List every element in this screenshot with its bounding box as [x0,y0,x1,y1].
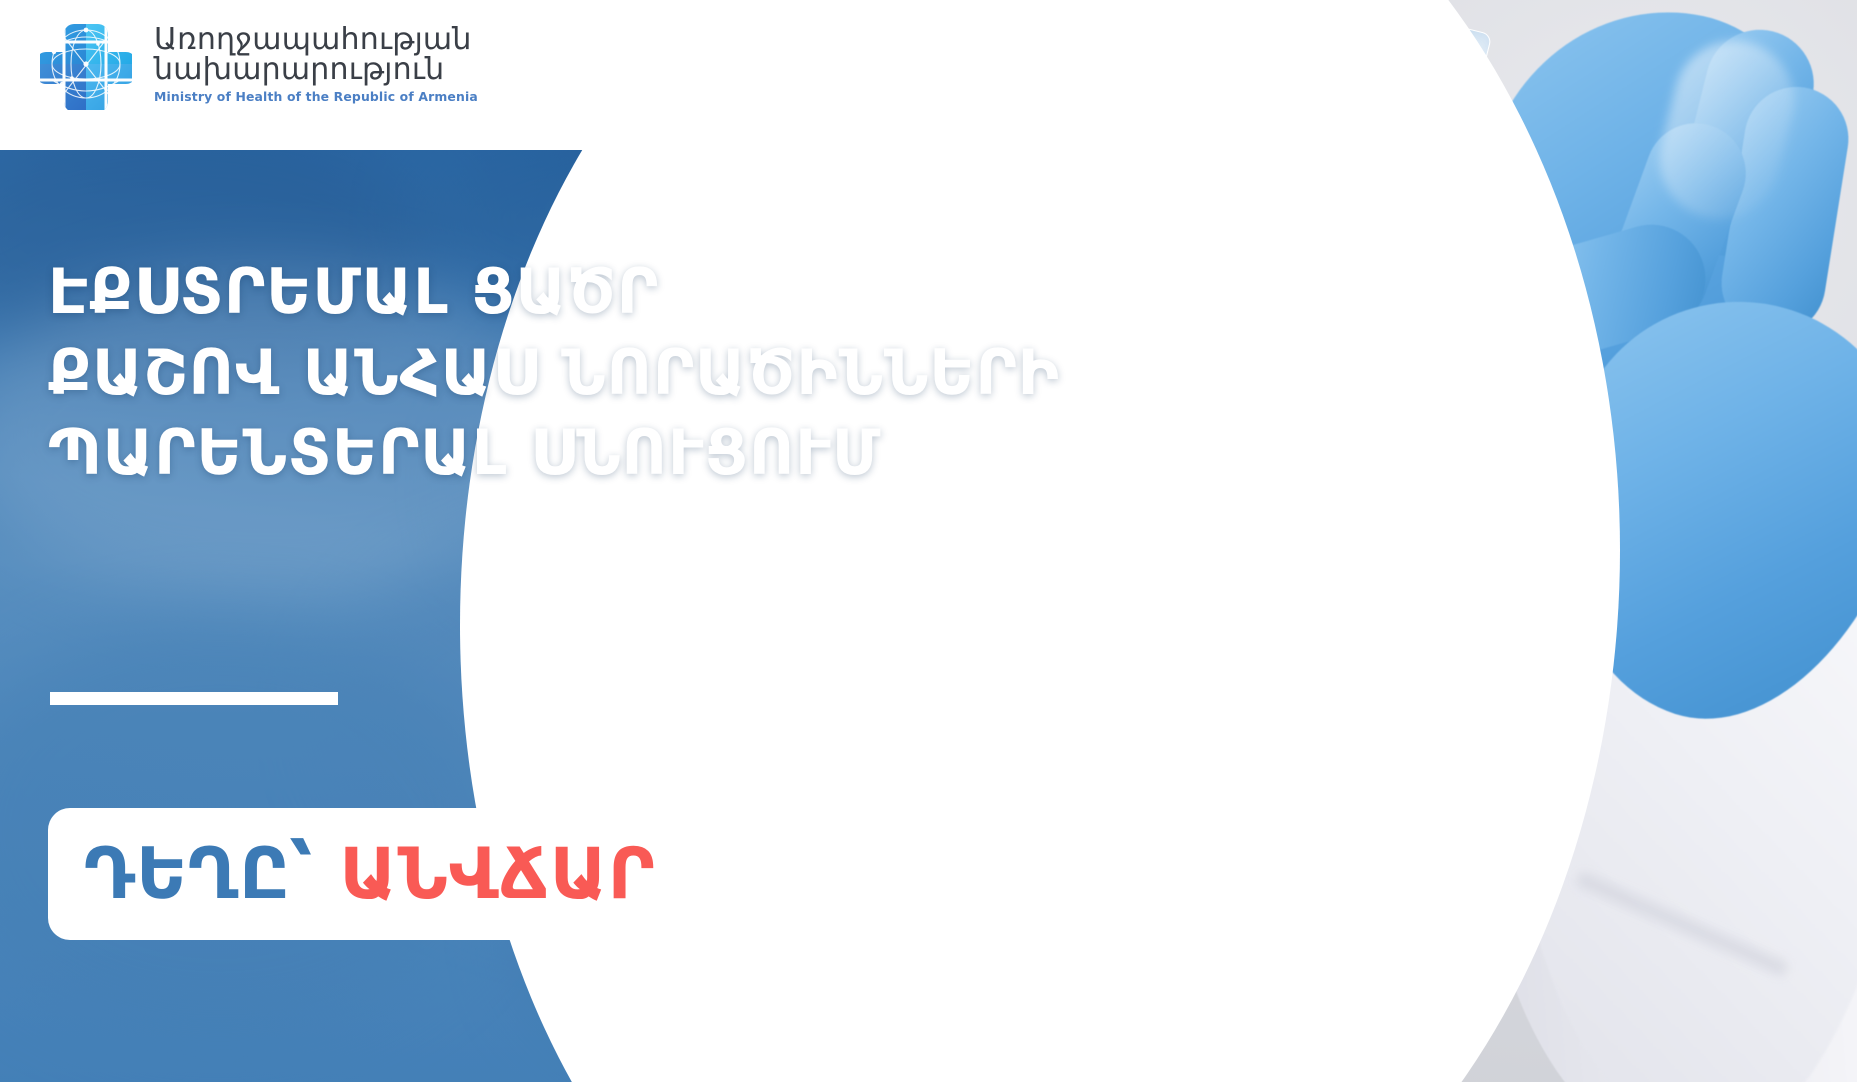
headline-line-2: ՔԱՇՈՎ ԱՆՀԱՍ ՆՈՐԱԾԻՆՆԵՐԻ [48,333,1060,414]
headline-line-1: ԷՔՍՏՐԵՄԱԼ ՑԱԾՐ [48,252,1060,333]
logo-english-subtitle: Ministry of Health of the Republic of Ar… [154,91,478,104]
badge-label-primary: ԴԵՂԸ՝ [84,833,314,915]
badge-label-highlight: ԱՆՎՃԱՐ [340,833,656,915]
armenia-health-cross-icon [40,18,132,110]
white-rule [50,692,338,705]
free-medicine-badge: ԴԵՂԸ՝ ԱՆՎՃԱՐ [48,808,691,940]
logo-text-block: Առողջապահության նախարարություն Ministry … [154,25,478,104]
headline: ԷՔՍՏՐԵՄԱԼ ՑԱԾՐ ՔԱՇՈՎ ԱՆՀԱՍ ՆՈՐԱԾԻՆՆԵՐԻ Պ… [48,252,1060,494]
photo-panel: 1 2 3 4 5ml [1000,0,1857,1082]
poster-root: 1 2 3 4 5ml [0,0,1857,1082]
logo-line-1: Առողջապահության [154,25,478,56]
photo-curve-mask [1000,0,1620,1082]
headline-line-3: ՊԱՐԵՆՏԵՐԱԼ ՍՆՈՒՑՈՒՄ [48,413,1060,494]
ministry-logo: Առողջապահության նախարարություն Ministry … [40,18,478,110]
logo-line-2: նախարարություն [154,55,478,86]
